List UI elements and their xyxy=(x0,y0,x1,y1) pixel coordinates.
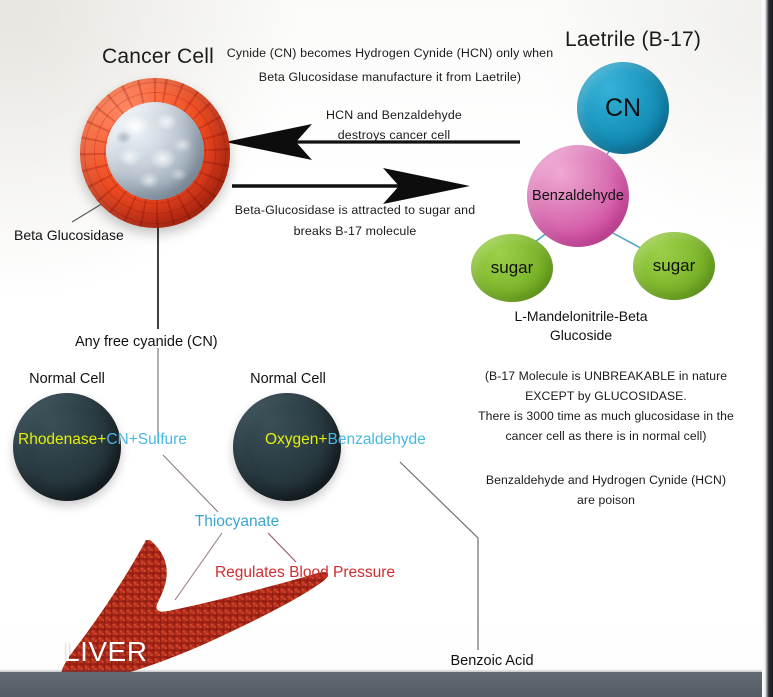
cancer-cell-title: Cancer Cell xyxy=(102,44,214,71)
equation-1-plus: + xyxy=(97,431,106,448)
arrow-left-label-line1: HCN and Benzaldehyde xyxy=(326,108,462,124)
node-benzaldehyde-label: Benzaldehyde xyxy=(532,188,624,204)
side-note-1-line3: There is 3000 time as much glucosidase i… xyxy=(478,407,734,427)
equation-1-product: CN+Sulfure xyxy=(106,431,187,448)
blood-pressure-label: Regulates Blood Pressure xyxy=(215,563,395,583)
node-sugar-right[interactable]: sugar xyxy=(633,232,715,300)
bottom-bar xyxy=(0,672,773,697)
cancer-cell-nucleus-texture xyxy=(106,102,204,200)
cancer-cell-graphic xyxy=(80,78,230,228)
equation-cell-1: Rhodenase+CN+Sulfure xyxy=(18,431,187,449)
arrow-right-label-line1: Beta-Glucosidase is attracted to sugar a… xyxy=(235,203,475,219)
node-cn-label: CN xyxy=(605,94,641,123)
cancer-note-line1: Cynide (CN) becomes Hydrogen Cynide (HCN… xyxy=(227,46,554,62)
side-note-1-line1: (B-17 Molecule is UNBREAKABLE in nature xyxy=(485,367,727,387)
equation-1-enzyme: Rhodenase xyxy=(18,431,97,448)
equation-cell-2: Oxygen+Benzaldehyde xyxy=(265,431,426,449)
free-cyanide-label: Any free cyanide (CN) xyxy=(75,333,218,352)
benzoic-acid-line1: Benzoic Acid xyxy=(450,652,533,671)
laetrile-title: Laetrile (B-17) xyxy=(565,27,701,54)
leader-benzaldehyde-to-benzoic xyxy=(400,462,478,650)
normal-cell-2-title: Normal Cell xyxy=(250,370,326,389)
side-note-1-line2: EXCEPT by GLUCOSIDASE. xyxy=(525,387,687,407)
equation-2-enzyme: Oxygen xyxy=(265,431,318,448)
cancer-cell-nucleus xyxy=(106,102,204,200)
right-edge-border xyxy=(762,0,773,697)
cancer-note-line2: Beta Glucosidase manufacture it from Lae… xyxy=(259,70,521,86)
node-benzaldehyde[interactable]: Benzaldehyde xyxy=(527,145,629,247)
thiocyanate-label: Thiocyanate xyxy=(195,512,279,532)
side-note-2-line1: Benzaldehyde and Hydrogen Cynide (HCN) xyxy=(486,471,726,491)
side-note-1-line4: cancer cell as there is in normal cell) xyxy=(505,427,706,447)
arrow-left-label-line2: destroys cancer cell xyxy=(338,128,451,144)
laetrile-caption-line1: L-Mandelonitrile-Beta xyxy=(514,308,647,326)
leader-thiocyanate-to-bloodpressure xyxy=(268,533,296,562)
node-sugar-right-label: sugar xyxy=(653,256,696,276)
liver-label: LIVER xyxy=(64,636,147,668)
side-note-2-line2: are poison xyxy=(577,491,635,511)
laetrile-caption-line2: Glucoside xyxy=(550,327,612,345)
diagram-canvas: CN Benzaldehyde sugar sugar Cancer Cell … xyxy=(0,0,773,697)
equation-2-product: Benzaldehyde xyxy=(327,431,425,448)
node-cn[interactable]: CN xyxy=(577,62,669,154)
arrow-right-attracted xyxy=(232,168,470,204)
node-sugar-left-label: sugar xyxy=(491,258,534,278)
normal-cell-1-title: Normal Cell xyxy=(29,370,105,389)
node-sugar-left[interactable]: sugar xyxy=(471,234,553,302)
leader-sulfure-to-thiocyanate xyxy=(163,455,218,512)
arrow-right-label-line2: breaks B-17 molecule xyxy=(294,224,417,240)
beta-glucosidase-label: Beta Glucosidase xyxy=(14,227,124,245)
